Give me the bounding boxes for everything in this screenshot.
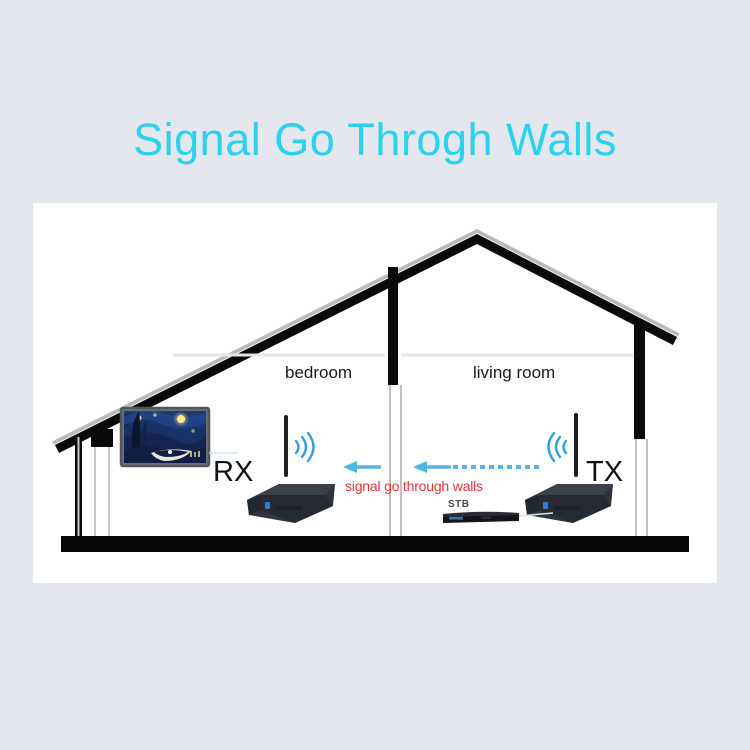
device-label-stb: STB — [448, 499, 470, 510]
antenna-icon — [574, 413, 578, 477]
room-label-living-room: living room — [473, 363, 555, 383]
wall-center — [388, 267, 401, 540]
stb-device — [443, 512, 519, 523]
signal-arrows — [343, 461, 539, 473]
rx-device — [247, 415, 335, 523]
signal-caption: signal go through walls — [345, 478, 483, 494]
floor — [61, 536, 689, 552]
signal-arrow-right — [413, 461, 451, 473]
room-label-bedroom: bedroom — [285, 363, 352, 383]
signal-arrow-left — [343, 461, 381, 473]
wall-right — [634, 321, 647, 540]
tv-screen-content — [124, 410, 206, 465]
page-root: Signal Go Throgh Walls — [0, 0, 750, 750]
wall-left — [75, 429, 113, 539]
wifi-icon — [549, 433, 567, 461]
house-svg — [33, 203, 717, 583]
antenna-icon — [284, 415, 288, 477]
diagram-panel: bedroom living room RX TX signal go thro… — [33, 203, 717, 583]
house-cross-section-diagram: bedroom living room RX TX signal go thro… — [33, 203, 717, 583]
wifi-icon — [296, 433, 314, 461]
tv-device — [121, 408, 209, 466]
device-label-rx: RX — [213, 456, 253, 489]
device-label-tx: TX — [586, 456, 623, 489]
page-title: Signal Go Throgh Walls — [0, 112, 750, 168]
